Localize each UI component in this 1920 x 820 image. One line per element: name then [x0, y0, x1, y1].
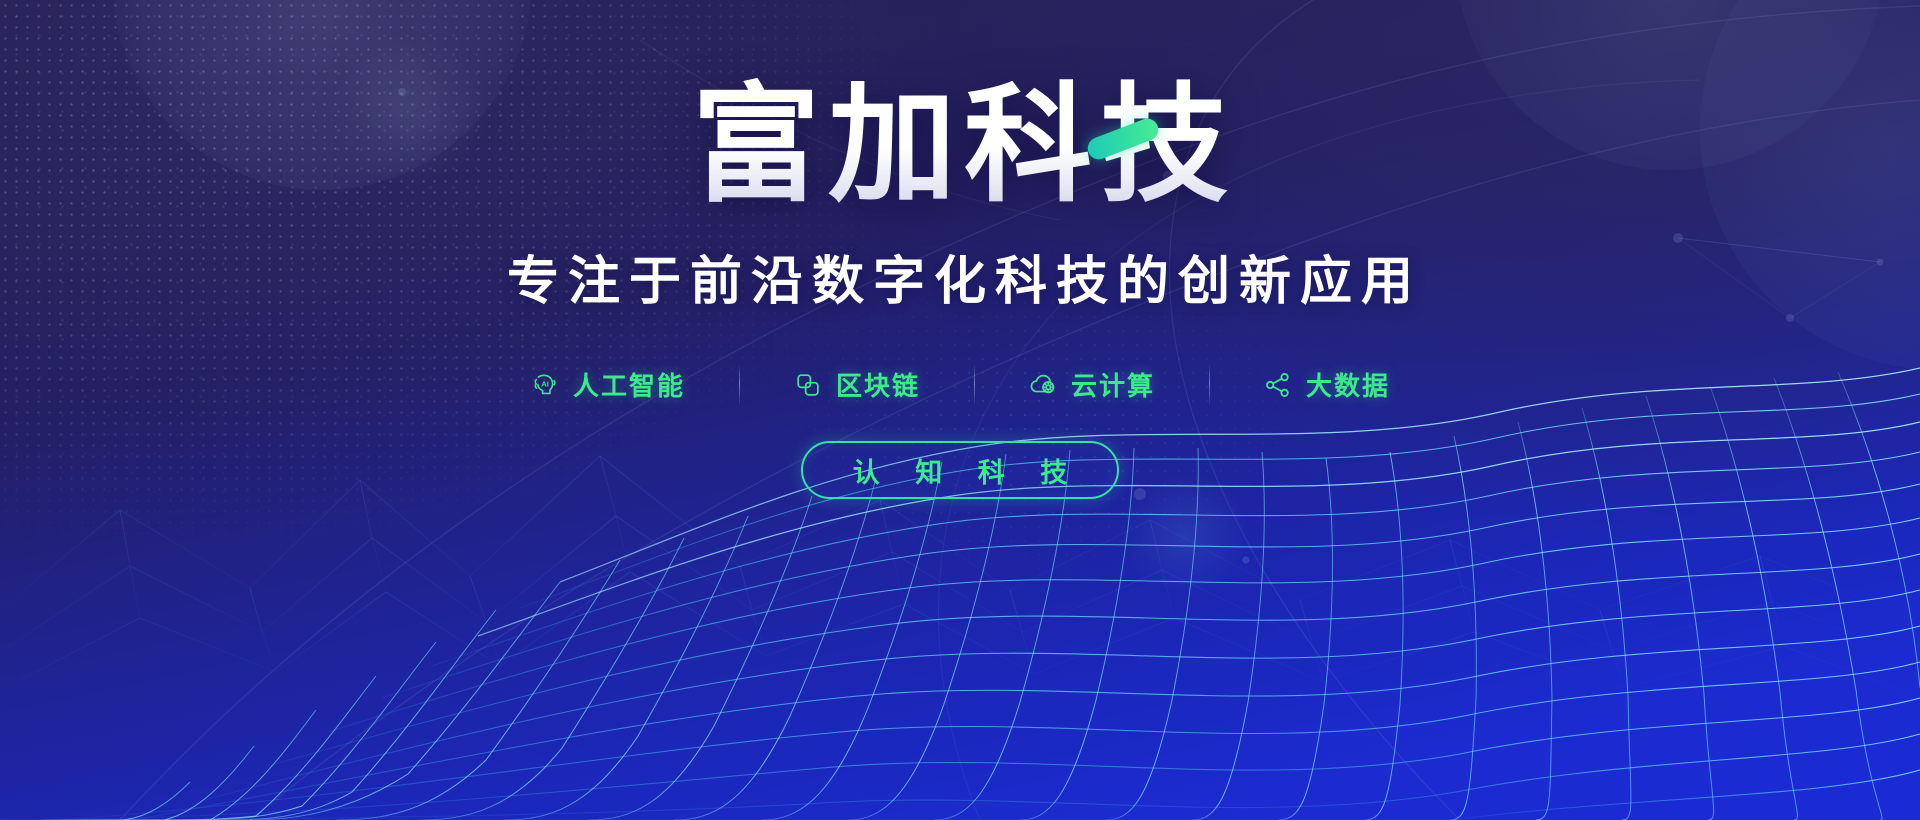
feature-tag-ai[interactable]: AI 人工智能 — [476, 366, 739, 403]
brand-logo-text: 富加科技 — [684, 74, 1236, 217]
hero-banner: 富加科技 专注于前沿数字化科技的创新应用 AI 人工智能 — [0, 0, 1920, 820]
cognitive-technology-button[interactable]: 认 知 科 技 — [801, 441, 1120, 499]
hero-subtitle: 专注于前沿数字化科技的创新应用 — [498, 239, 1422, 314]
cloud-gear-icon — [1028, 370, 1058, 400]
share-nodes-icon — [1263, 370, 1293, 400]
feature-tag-label: 云计算 — [1071, 366, 1155, 403]
hero-content: 富加科技 专注于前沿数字化科技的创新应用 AI 人工智能 — [0, 0, 1920, 820]
feature-tag-label: 大数据 — [1306, 366, 1390, 403]
ai-head-icon: AI — [530, 370, 560, 400]
feature-tag-list: AI 人工智能 区块链 — [476, 366, 1444, 403]
feature-tag-bigdata[interactable]: 大数据 — [1209, 366, 1444, 403]
feature-tag-blockchain[interactable]: 区块链 — [739, 366, 974, 403]
feature-tag-label: 人工智能 — [573, 366, 685, 403]
feature-tag-cloud[interactable]: 云计算 — [974, 366, 1209, 403]
blockchain-blocks-icon — [793, 370, 823, 400]
feature-tag-label: 区块链 — [836, 366, 920, 403]
svg-text:AI: AI — [541, 379, 549, 388]
